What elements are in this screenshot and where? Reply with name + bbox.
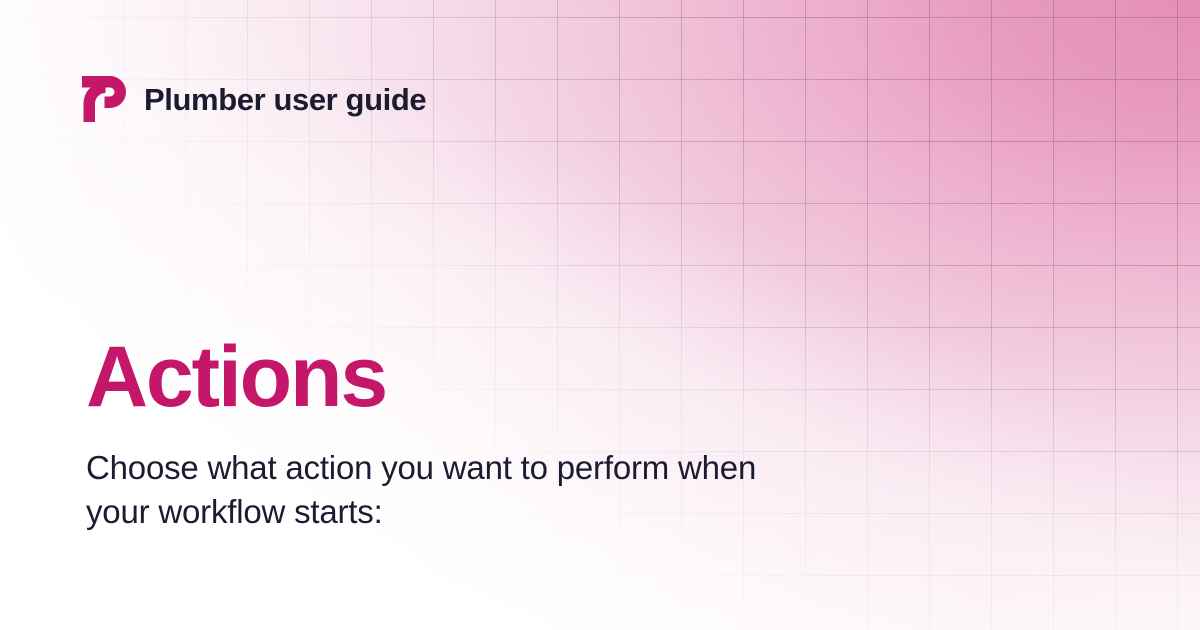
page-subtitle: Choose what action you want to perform w… xyxy=(86,446,806,534)
page-title: Actions xyxy=(86,334,1066,422)
card-content: Plumber user guide Actions Choose what a… xyxy=(0,0,1200,630)
hero-block: Actions Choose what action you want to p… xyxy=(86,334,1066,534)
share-card: Plumber user guide Actions Choose what a… xyxy=(0,0,1200,630)
plumber-p-logo-icon xyxy=(82,76,126,122)
brand-lockup[interactable]: Plumber user guide xyxy=(82,76,426,122)
brand-name: Plumber user guide xyxy=(144,84,426,115)
